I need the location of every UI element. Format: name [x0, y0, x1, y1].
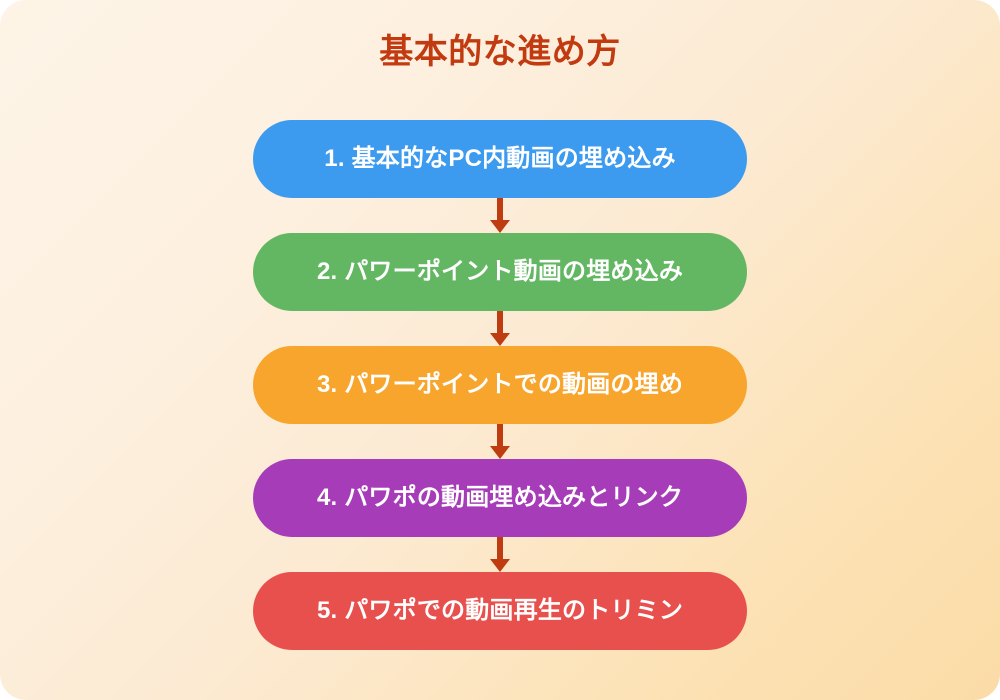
arrow-shaft-icon — [497, 311, 503, 335]
step-label-3: 3. パワーポイントでの動画の埋め — [317, 370, 683, 400]
step-row-5: 5. パワポでの動画再生のトリミン — [253, 572, 747, 650]
arrow-down-icon — [490, 446, 510, 459]
step-row-1: 1. 基本的なPC内動画の埋め込み — [253, 120, 747, 198]
connector-arrow-1 — [253, 198, 747, 233]
step-row-4: 4. パワポの動画埋め込みとリンク — [253, 459, 747, 537]
arrow-shaft-icon — [497, 198, 503, 222]
step-box-3[interactable]: 3. パワーポイントでの動画の埋め — [253, 346, 747, 424]
step-row-2: 2. パワーポイント動画の埋め込み — [253, 233, 747, 311]
step-label-1: 1. 基本的なPC内動画の埋め込み — [324, 144, 675, 174]
step-box-4[interactable]: 4. パワポの動画埋め込みとリンク — [253, 459, 747, 537]
flowchart-canvas: 基本的な進め方 1. 基本的なPC内動画の埋め込み 2. パワーポイント動画の埋… — [0, 0, 1000, 700]
step-flow-list: 1. 基本的なPC内動画の埋め込み 2. パワーポイント動画の埋め込み 3. パ… — [253, 120, 747, 650]
arrow-shaft-icon — [497, 424, 503, 448]
connector-arrow-2 — [253, 311, 747, 346]
step-box-1[interactable]: 1. 基本的なPC内動画の埋め込み — [253, 120, 747, 198]
step-box-5[interactable]: 5. パワポでの動画再生のトリミン — [253, 572, 747, 650]
connector-arrow-3 — [253, 424, 747, 459]
arrow-shaft-icon — [497, 537, 503, 561]
step-label-5: 5. パワポでの動画再生のトリミン — [317, 596, 683, 626]
arrow-down-icon — [490, 333, 510, 346]
arrow-down-icon — [490, 559, 510, 572]
arrow-down-icon — [490, 220, 510, 233]
step-row-3: 3. パワーポイントでの動画の埋め — [253, 346, 747, 424]
step-label-4: 4. パワポの動画埋め込みとリンク — [317, 483, 683, 513]
page-title: 基本的な進め方 — [0, 30, 1000, 74]
step-label-2: 2. パワーポイント動画の埋め込み — [317, 257, 683, 287]
connector-arrow-4 — [253, 537, 747, 572]
step-box-2[interactable]: 2. パワーポイント動画の埋め込み — [253, 233, 747, 311]
